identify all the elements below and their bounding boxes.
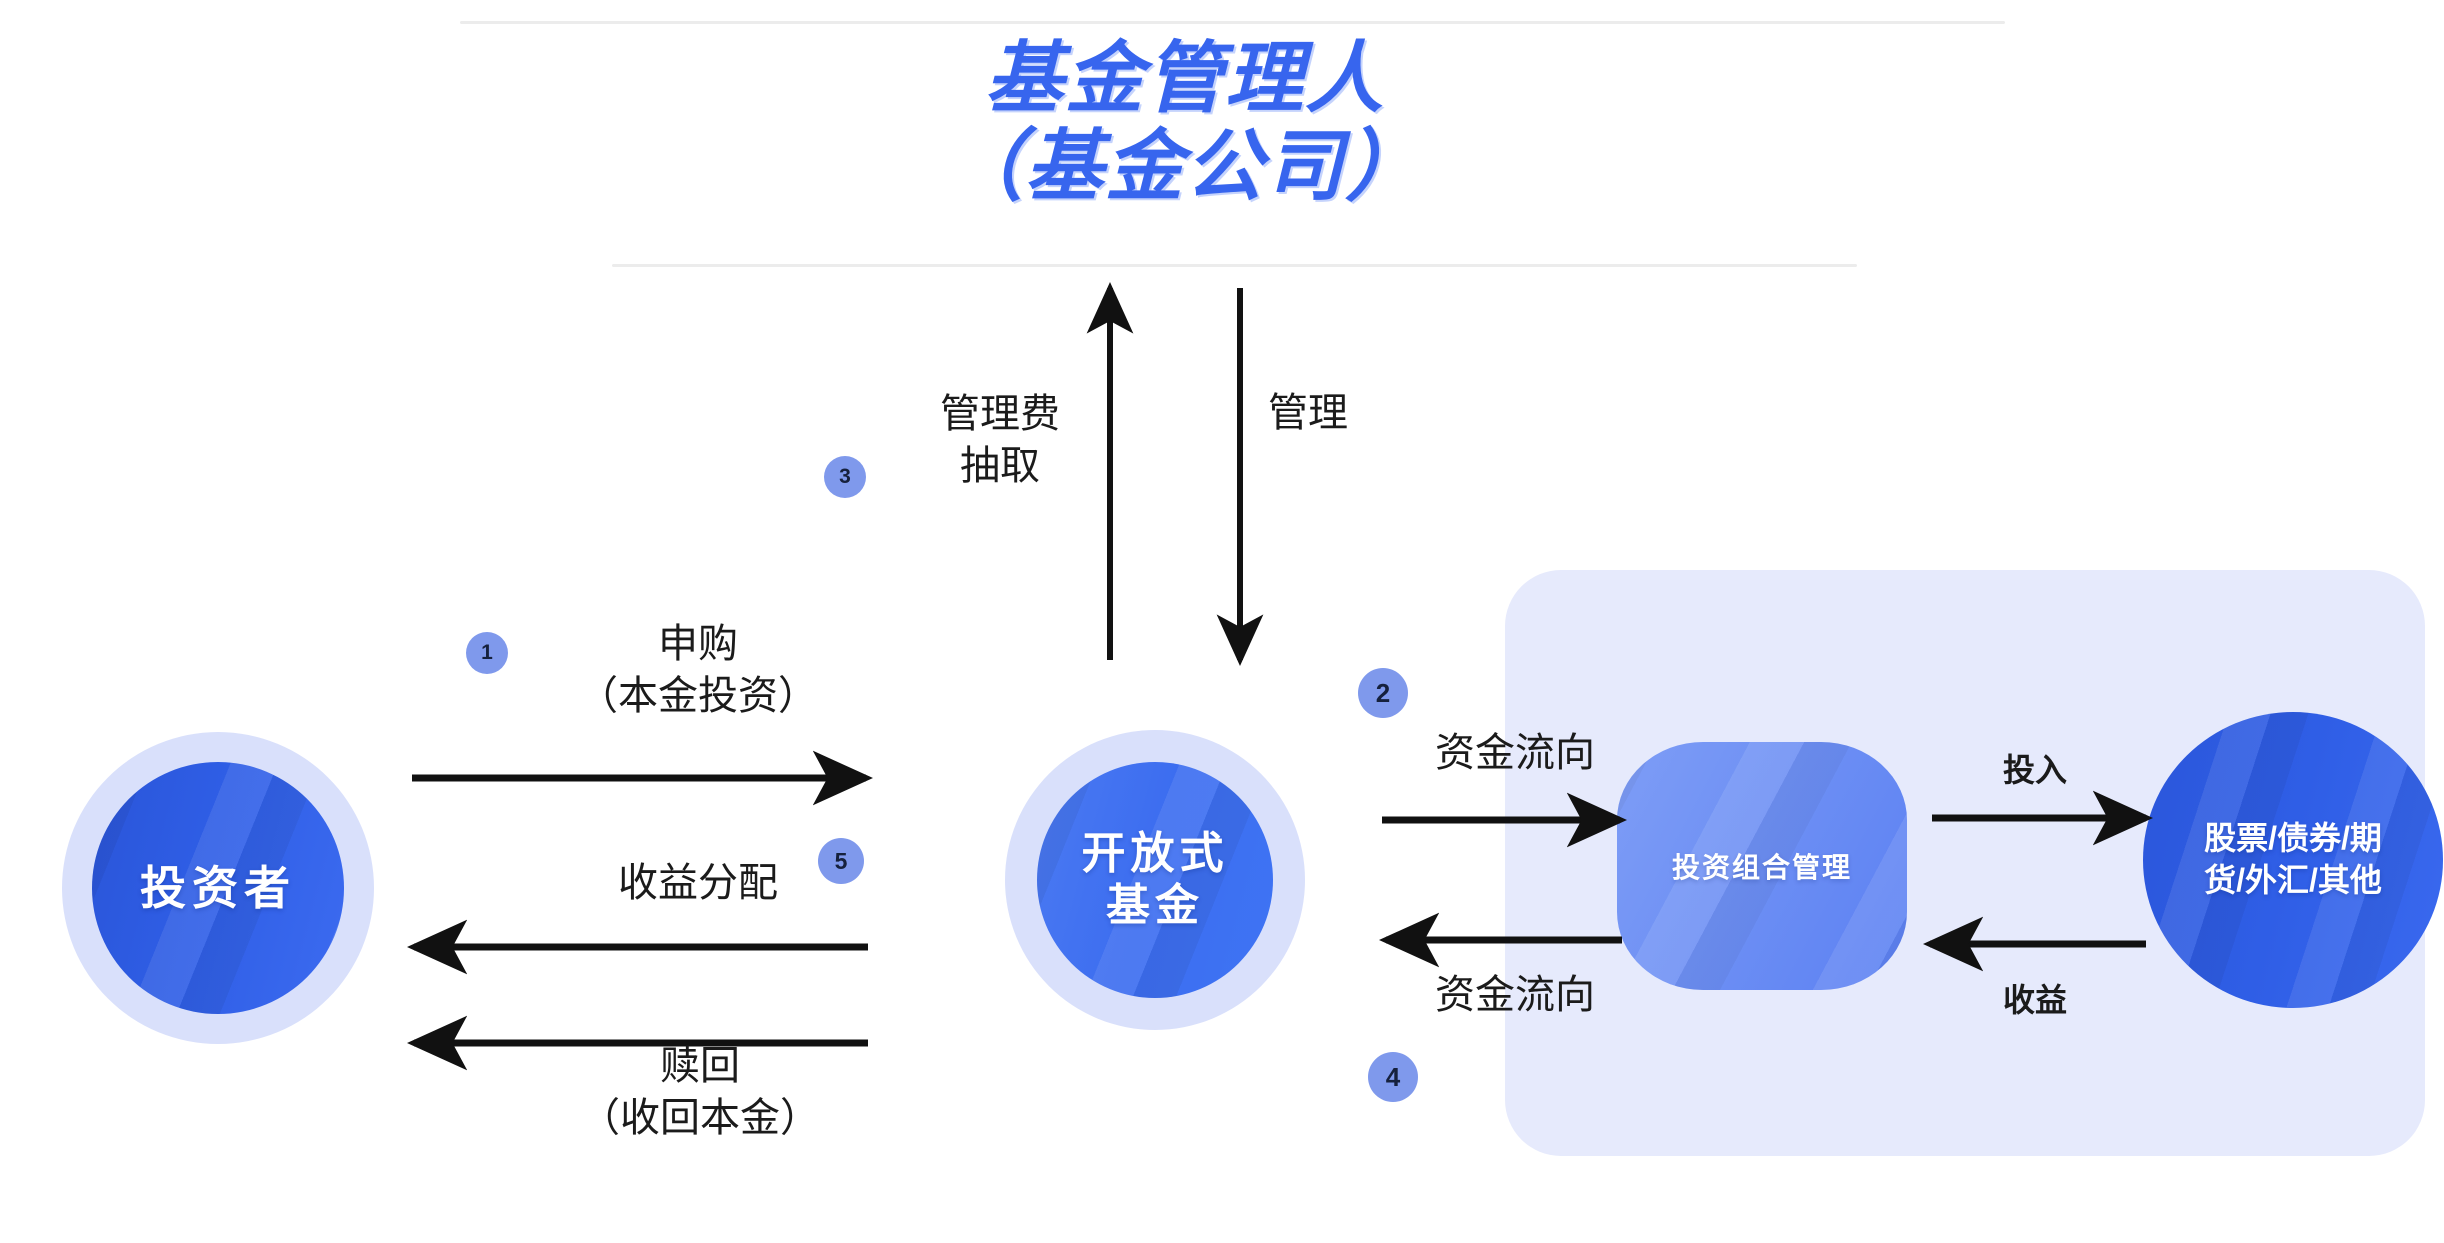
node-open-end-fund[interactable]: 开放式 基金 — [1005, 730, 1305, 1030]
fund-label-line-2: 基金 — [1082, 880, 1229, 932]
fund-core: 开放式 基金 — [1037, 762, 1273, 998]
assets-label: 股票/债券/期 货/外汇/其他 — [2158, 818, 2428, 901]
label-fund-flow-in: 资金流向 — [1400, 728, 1630, 778]
step-badge-3: 3 — [824, 456, 866, 498]
label-subscribe: 申购 （本金投资） — [488, 618, 908, 722]
label-redeem: 赎回 （收回本金） — [490, 1040, 910, 1144]
label-return: 收益 — [1965, 980, 2105, 1020]
divider-top — [460, 21, 2005, 24]
step-badge-2: 2 — [1358, 668, 1408, 718]
fund-label: 开放式 基金 — [1082, 828, 1229, 932]
node-portfolio-management[interactable]: 投资组合管理 — [1617, 742, 1907, 990]
fund-label-line-1: 开放式 — [1082, 828, 1229, 880]
portfolio-label: 投资组合管理 — [1672, 846, 1852, 886]
assets-label-line-1: 股票/债券/期 — [2158, 818, 2428, 860]
divider-bottom — [612, 264, 1857, 267]
investor-label: 投资者 — [140, 861, 296, 915]
diagram-canvas: 基金管理人 （基金公司） 投资者 开放式 基金 投资组合管理 股票/债券/期 货… — [0, 0, 2444, 1243]
label-subscribe-line-1: 申购 — [488, 618, 908, 670]
label-fee-line-2: 抽取 — [880, 440, 1120, 492]
node-investor[interactable]: 投资者 — [62, 732, 374, 1044]
label-invest: 投入 — [1965, 750, 2105, 790]
label-manage: 管理 — [1268, 388, 1448, 438]
label-redeem-line-1: 赎回 — [490, 1040, 910, 1092]
label-subscribe-line-2: （本金投资） — [488, 670, 908, 722]
assets-label-line-2: 货/外汇/其他 — [2158, 860, 2428, 902]
label-management-fee: 管理费 抽取 — [880, 388, 1120, 492]
investor-core: 投资者 — [92, 762, 344, 1014]
step-badge-4: 4 — [1368, 1052, 1418, 1102]
label-redeem-line-2: （收回本金） — [490, 1092, 910, 1144]
step-badge-5: 5 — [818, 838, 864, 884]
node-asset-classes[interactable]: 股票/债券/期 货/外汇/其他 — [2143, 712, 2443, 1008]
page-title: 基金管理人 （基金公司） — [640, 38, 1730, 208]
step-badge-1: 1 — [466, 632, 508, 674]
label-fund-flow-out: 资金流向 — [1400, 970, 1630, 1020]
label-fee-line-1: 管理费 — [880, 388, 1120, 440]
title-line-1: 基金管理人 — [640, 38, 1730, 120]
title-line-2: （基金公司） — [640, 126, 1730, 208]
